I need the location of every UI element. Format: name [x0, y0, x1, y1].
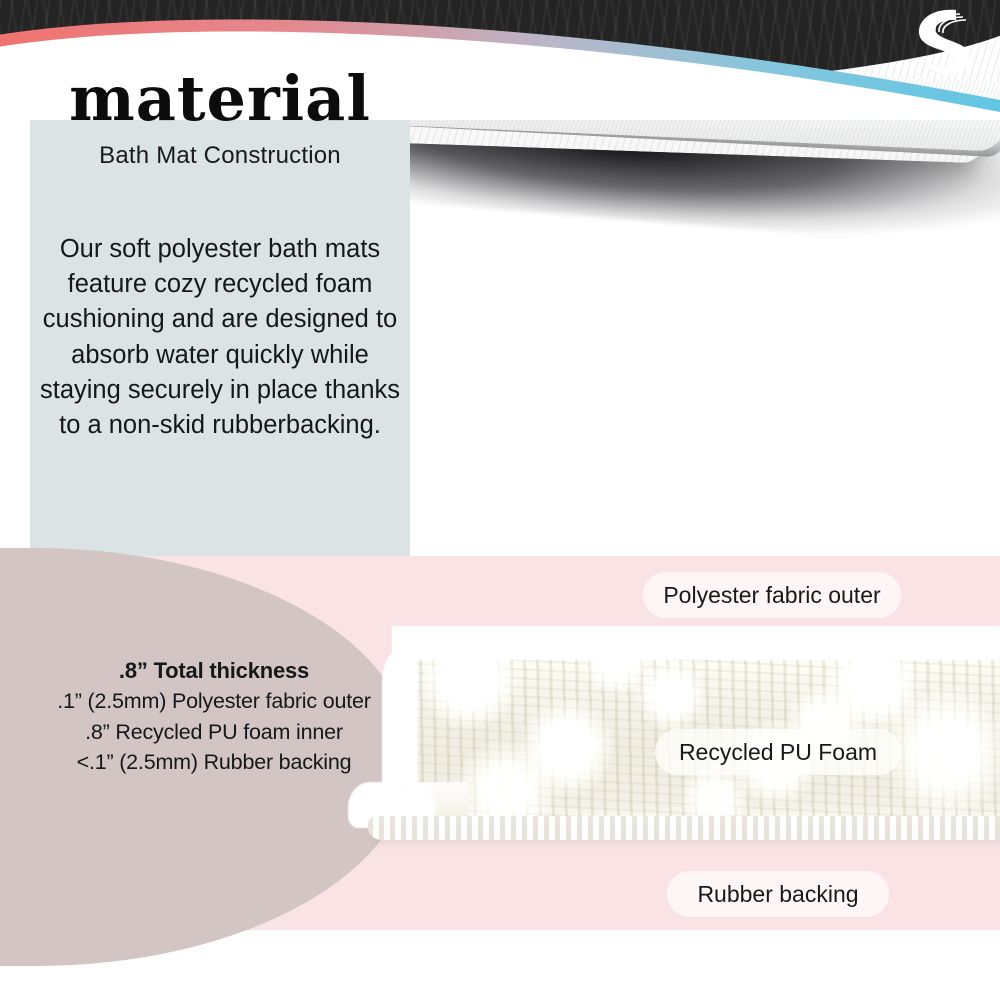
- foam-top-pile: [392, 626, 1000, 660]
- brand-s-logo-icon: [894, 2, 986, 80]
- spec-total-thickness: .8” Total thickness: [34, 655, 394, 686]
- callout-polyester-fabric-outer: Polyester fabric outer: [643, 572, 901, 618]
- spec-line-rubber: <.1” (2.5mm) Rubber backing: [34, 747, 394, 778]
- page-subtitle: Bath Mat Construction: [30, 142, 410, 170]
- spec-line-foam: .8” Recycled PU foam inner: [34, 717, 394, 748]
- infographic-canvas: material Bath Mat Construction Our soft …: [0, 0, 1000, 1000]
- spec-line-outer: .1” (2.5mm) Polyester fabric outer: [34, 686, 394, 717]
- callout-recycled-pu-foam: Recycled PU Foam: [655, 729, 901, 775]
- page-title: material: [30, 68, 410, 130]
- thickness-spec-block: .8” Total thickness .1” (2.5mm) Polyeste…: [34, 655, 394, 778]
- foam-rubber-backing-layer: [368, 816, 1000, 840]
- description-paragraph: Our soft polyester bath mats feature coz…: [36, 232, 404, 443]
- brand-logo[interactable]: [894, 2, 986, 80]
- callout-rubber-backing: Rubber backing: [667, 871, 889, 917]
